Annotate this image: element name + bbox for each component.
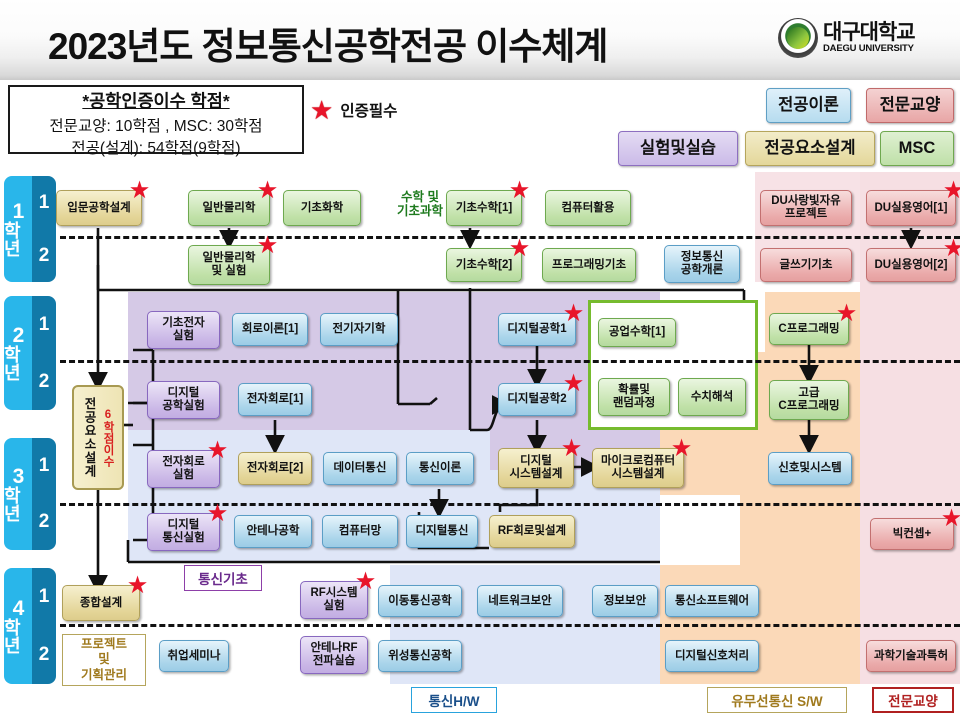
course-box-satellite-communication[interactable]: 위성통신공학 xyxy=(378,640,462,672)
course-box-digital-engineering-lab[interactable]: 디지털 공학실험 xyxy=(147,381,220,419)
year-number-2: 2 xyxy=(13,325,24,346)
course-label: 기초수학[1] xyxy=(456,202,512,215)
category-chip-lab-practice[interactable]: 실험및실습 xyxy=(618,131,738,166)
logo-name-kr: 대구대학교 xyxy=(823,22,915,44)
course-label-line3: 기획관리 xyxy=(81,668,127,683)
group-label-comm-basics: 통신기초 xyxy=(184,565,262,591)
course-label-line2: 전파실습 xyxy=(313,655,355,667)
star-icon: ★ xyxy=(510,180,529,201)
star-icon: ★ xyxy=(510,238,529,259)
course-label-line1: 디지털 xyxy=(168,387,200,399)
category-chip-professional-liberal[interactable]: 전문교양 xyxy=(866,88,954,123)
course-label: 고급 C프로그래밍 xyxy=(778,387,839,413)
course-box-intro-info-comm-engineering[interactable]: 정보통신 공학개론 xyxy=(664,245,740,283)
course-label: 전자회로 실험 xyxy=(162,456,204,482)
credit-box-title: *공학인증이수 학점* xyxy=(10,88,302,113)
course-label: 위성통신공학 xyxy=(388,650,451,663)
course-box-circuit-theory-1[interactable]: 회로이론[1] xyxy=(232,313,308,346)
course-label: DU실용영어[1] xyxy=(875,202,948,215)
course-label: 입문공학설계 xyxy=(67,202,130,215)
course-label: DU실용영어[2] xyxy=(875,259,948,272)
star-icon: ★ xyxy=(562,438,581,459)
course-label-line2: 실험 xyxy=(173,330,194,342)
course-label: 디지털 시스템설계 xyxy=(510,455,563,481)
course-label: 정보통신 공학개론 xyxy=(681,251,723,277)
course-label-line1: RF시스템 xyxy=(310,587,357,599)
course-label: 확률및 랜덤과정 xyxy=(613,384,655,410)
course-box-rf-circuit-and-design[interactable]: RF회로및설계 xyxy=(489,515,575,548)
course-label: RF회로및설계 xyxy=(498,525,566,538)
course-box-basic-math-1[interactable]: 기초수학[1] ★ xyxy=(446,190,522,226)
course-box-general-physics-and-lab[interactable]: 일반물리학 및 실험 ★ xyxy=(188,245,270,285)
course-label-line2: 공학실험 xyxy=(162,400,204,412)
course-label-line2: 및 xyxy=(98,652,110,667)
course-label-line2: 및 실험 xyxy=(212,265,247,277)
course-box-digital-system-design[interactable]: 디지털 시스템설계 ★ xyxy=(498,448,574,488)
course-box-du-love-light-freedom-project[interactable]: DU사랑빛자유 프로젝트 xyxy=(760,190,852,226)
course-label: 기초전자 실험 xyxy=(162,317,204,343)
course-label: 정보보안 xyxy=(604,595,646,608)
course-box-information-security[interactable]: 정보보안 xyxy=(592,585,658,617)
course-label-line1: 고급 xyxy=(798,387,819,399)
course-box-project-and-planning-management[interactable]: 프로젝트 및 기획관리 xyxy=(62,634,146,686)
course-label-line2: 공학개론 xyxy=(681,264,723,276)
star-legend-label: 인증필수 xyxy=(340,99,397,121)
semester-divider-4 xyxy=(60,624,960,627)
course-label-line2: 실험 xyxy=(173,469,194,481)
course-label: 네트워크보안 xyxy=(488,595,551,608)
credit-box-line3: 전공(설계): 54학점(9학점) xyxy=(10,136,302,158)
course-box-computer-usage[interactable]: 컴퓨터활용 xyxy=(545,190,631,226)
course-label: 취업세미나 xyxy=(168,650,221,663)
course-box-digital-signal-processing[interactable]: 디지털신호처리 xyxy=(665,640,759,672)
course-box-digital-engineering-2[interactable]: 디지털공학2 ★ xyxy=(498,383,576,416)
course-box-digital-communication[interactable]: 디지털통신 xyxy=(406,515,478,548)
course-label: 과학기술과특허 xyxy=(874,650,948,663)
course-box-du-practical-english-1[interactable]: DU실용영어[1] ★ xyxy=(866,190,956,226)
group-label-wireless-sw: 유무선통신 S/W xyxy=(707,687,847,713)
course-box-intro-engineering-design[interactable]: 입문공학설계 ★ xyxy=(56,190,142,226)
star-legend: ★ 인증필수 xyxy=(310,97,397,123)
course-label: C프로그래밍 xyxy=(778,323,839,336)
course-label-line1: DU사랑빛자유 xyxy=(771,195,841,207)
semester-1-1: 1 xyxy=(32,176,56,229)
design-element-label: 전공요소설계 xyxy=(80,397,99,478)
year-label-1: 1 학년 xyxy=(4,176,32,282)
year-number-3: 3 xyxy=(13,466,24,487)
course-label: 컴퓨터활용 xyxy=(562,202,615,215)
course-label-line1: 기초전자 xyxy=(162,317,204,329)
course-box-computer-networks[interactable]: 컴퓨터망 xyxy=(322,515,398,548)
course-label-line2: 랜덤과정 xyxy=(613,397,655,409)
semester-2-2: 2 xyxy=(32,353,56,410)
star-icon: ★ xyxy=(672,438,691,459)
course-box-general-physics[interactable]: 일반물리학 ★ xyxy=(188,190,270,226)
course-label: 전자회로[2] xyxy=(247,462,303,475)
course-box-writing-basics[interactable]: 글쓰기기초 xyxy=(760,248,852,282)
course-box-capstone-design[interactable]: 종합설계 ★ xyxy=(62,585,140,621)
course-box-electronic-circuits-2[interactable]: 전자회로[2] xyxy=(238,452,312,485)
course-box-antenna-rf-propagation-practice[interactable]: 안테나RF 전파실습 xyxy=(300,636,368,674)
star-icon: ★ xyxy=(208,503,227,524)
course-label-line2: 시스템설계 xyxy=(510,468,563,480)
page-header: 2023년도 정보통신공학전공 이수체계 대구대학교 DAEGU UNIVERS… xyxy=(0,0,960,80)
course-label: 글쓰기기초 xyxy=(780,259,833,272)
year-suffix-4: 학년 xyxy=(4,619,32,655)
course-label-line1: 프로젝트 xyxy=(81,637,127,652)
course-label: 일반물리학 및 실험 xyxy=(203,252,256,278)
star-icon: ★ xyxy=(356,571,375,592)
course-label: 디지털공학1 xyxy=(507,323,566,336)
course-box-basic-electronics-lab[interactable]: 기초전자 실험 xyxy=(147,311,220,349)
page-title: 2023년도 정보통신공학전공 이수체계 xyxy=(48,16,607,70)
year-block-4: 4 학년 1 2 xyxy=(4,568,56,684)
course-box-numerical-analysis[interactable]: 수치해석 xyxy=(678,378,746,416)
course-box-mobile-communication[interactable]: 이동통신공학 xyxy=(378,585,462,617)
star-icon: ★ xyxy=(944,238,960,259)
course-box-science-technology-and-patents[interactable]: 과학기술과특허 xyxy=(866,640,956,672)
course-label: 디지털 통신실험 xyxy=(162,519,204,545)
course-label: 신호및시스템 xyxy=(778,462,841,475)
star-icon: ★ xyxy=(130,180,149,201)
year-suffix-2: 학년 xyxy=(4,346,32,382)
course-box-digital-engineering-1[interactable]: 디지털공학1 ★ xyxy=(498,313,576,346)
course-label-line1: 마이크로컴퓨터 xyxy=(601,455,675,467)
semester-2-1: 1 xyxy=(32,296,56,353)
star-icon: ★ xyxy=(128,575,147,596)
star-icon: ★ xyxy=(258,235,277,256)
course-label: 통신소프트웨어 xyxy=(675,595,749,608)
credit-requirement-box: *공학인증이수 학점* 전문교양: 10학점 , MSC: 30학점 전공(설계… xyxy=(8,85,304,154)
seal-icon xyxy=(778,18,818,58)
star-icon: ★ xyxy=(564,303,583,324)
course-box-du-practical-english-2[interactable]: DU실용영어[2] ★ xyxy=(866,248,956,282)
course-label: 컴퓨터망 xyxy=(339,525,381,538)
year-number-1: 1 xyxy=(13,201,24,222)
course-box-digital-communication-lab[interactable]: 디지털 통신실험 ★ xyxy=(147,513,220,551)
year-block-1: 1 학년 1 2 xyxy=(4,176,56,282)
year-block-3: 3 학년 1 2 xyxy=(4,438,56,550)
course-label: 프로그래밍기초 xyxy=(552,259,626,272)
course-box-rf-system-lab[interactable]: RF시스템 실험 ★ xyxy=(300,581,368,619)
course-box-programming-basics[interactable]: 프로그래밍기초 xyxy=(542,248,636,282)
semester-1-2: 2 xyxy=(32,229,56,282)
course-label: 회로이론[1] xyxy=(242,323,298,336)
course-box-microcomputer-system-design[interactable]: 마이크로컴퓨터 시스템설계 ★ xyxy=(592,448,684,488)
course-label: 디지털신호처리 xyxy=(675,650,749,663)
category-chip-major-theory[interactable]: 전공이론 xyxy=(766,88,851,123)
course-label: 전기자기학 xyxy=(333,323,386,336)
course-label-line1: 디지털 xyxy=(520,455,552,467)
course-label: 전자회로[1] xyxy=(247,393,303,406)
course-label: 기초수학[2] xyxy=(456,259,512,272)
course-label: 데이터통신 xyxy=(334,462,387,475)
course-label: 종합설계 xyxy=(80,597,122,610)
semester-3-2: 2 xyxy=(32,494,56,550)
star-icon: ★ xyxy=(258,180,277,201)
semester-4-2: 2 xyxy=(32,626,56,684)
course-label: 이동통신공학 xyxy=(388,595,451,608)
course-label-line1: 안테나RF xyxy=(310,642,357,654)
category-chip-msc[interactable]: MSC xyxy=(880,131,954,166)
semester-divider-3 xyxy=(60,503,960,506)
course-box-c-programming[interactable]: C프로그래밍 ★ xyxy=(769,313,849,345)
star-icon: ★ xyxy=(564,373,583,394)
course-label: 안테나RF 전파실습 xyxy=(310,642,357,668)
course-box-signals-and-systems[interactable]: 신호및시스템 xyxy=(768,452,852,485)
course-box-engineering-math-1[interactable]: 공업수학[1] xyxy=(598,318,676,347)
logo-name-en: DAEGU UNIVERSITY xyxy=(823,44,915,54)
course-label: DU사랑빛자유 프로젝트 xyxy=(771,195,841,221)
category-chip-design-element[interactable]: 전공요소설계 xyxy=(745,131,875,166)
course-label-line2: 통신실험 xyxy=(162,532,204,544)
credit-box-line2: 전문교양: 10학점 , MSC: 30학점 xyxy=(10,114,302,136)
course-box-electronic-circuits-lab[interactable]: 전자회로 실험 ★ xyxy=(147,450,220,488)
course-box-data-communication[interactable]: 데이터통신 xyxy=(323,452,397,485)
course-label-line2: C프로그래밍 xyxy=(778,400,839,412)
semester-3-1: 1 xyxy=(32,438,56,494)
course-box-antenna-engineering[interactable]: 안테나공학 xyxy=(234,515,312,548)
course-label: 기초화학 xyxy=(301,202,343,215)
course-label: 수치해석 xyxy=(691,391,733,404)
semester-4-1: 1 xyxy=(32,568,56,626)
year-label-2: 2 학년 xyxy=(4,296,32,410)
course-box-big-concept-plus[interactable]: 빅컨셉+ ★ xyxy=(870,518,954,550)
course-box-advanced-c-programming[interactable]: 고급 C프로그래밍 xyxy=(769,380,849,420)
year-suffix-3: 학년 xyxy=(4,487,32,523)
course-box-basic-math-2[interactable]: 기초수학[2] ★ xyxy=(446,248,522,282)
year-label-3: 3 학년 xyxy=(4,438,32,550)
university-logo: 대구대학교 DAEGU UNIVERSITY xyxy=(778,18,915,58)
course-label-line2: 프로젝트 xyxy=(785,208,827,220)
course-label: 디지털 공학실험 xyxy=(162,387,204,413)
year-suffix-1: 학년 xyxy=(4,222,32,258)
course-box-electronic-circuits-1[interactable]: 전자회로[1] xyxy=(238,383,312,416)
course-label: 통신이론 xyxy=(419,462,461,475)
star-icon: ★ xyxy=(208,440,227,461)
course-box-network-security[interactable]: 네트워크보안 xyxy=(477,585,563,617)
course-box-communication-software[interactable]: 통신소프트웨어 xyxy=(665,585,759,617)
star-icon: ★ xyxy=(944,180,960,201)
design-element-credit-note: 6학점이수 xyxy=(100,409,116,467)
course-label: 디지털통신 xyxy=(416,525,469,538)
course-label: 안테나공학 xyxy=(247,525,300,538)
course-label: 빅컨셉+ xyxy=(893,528,931,541)
course-box-career-seminar[interactable]: 취업세미나 xyxy=(159,640,229,672)
course-label: 공업수학[1] xyxy=(609,326,665,339)
course-label: 마이크로컴퓨터 시스템설계 xyxy=(601,455,675,481)
group-label-professional-liberal: 전문교양 xyxy=(872,687,954,713)
semester-divider-2 xyxy=(60,360,960,363)
course-box-probability-random-process[interactable]: 확률및 랜덤과정 xyxy=(598,378,670,416)
course-label-line1: 정보통신 xyxy=(681,251,723,263)
course-label-line1: 일반물리학 xyxy=(203,252,256,264)
group-label-comm-hw: 통신H/W xyxy=(411,687,497,713)
course-box-electromagnetics[interactable]: 전기자기학 xyxy=(320,313,398,346)
course-box-basic-chemistry[interactable]: 기초화학 xyxy=(283,190,361,226)
course-label-line1: 디지털 xyxy=(168,519,200,531)
course-label-line2: 실험 xyxy=(323,600,344,612)
design-element-column: 전공요소설계 6학점이수 xyxy=(72,385,124,490)
course-box-communication-theory[interactable]: 통신이론 xyxy=(406,452,474,485)
course-label-line2: 시스템설계 xyxy=(612,468,665,480)
year-label-4: 4 학년 xyxy=(4,568,32,684)
course-label-line1: 전자회로 xyxy=(162,456,204,468)
course-label: RF시스템 실험 xyxy=(310,587,357,613)
star-icon: ★ xyxy=(310,97,333,123)
star-icon: ★ xyxy=(942,508,960,529)
star-icon: ★ xyxy=(837,303,856,324)
year-number-4: 4 xyxy=(13,598,24,619)
year-block-2: 2 학년 1 2 xyxy=(4,296,56,410)
course-label: 일반물리학 xyxy=(203,202,256,215)
course-label-line1: 확률및 xyxy=(618,384,650,396)
course-label: 디지털공학2 xyxy=(507,393,566,406)
